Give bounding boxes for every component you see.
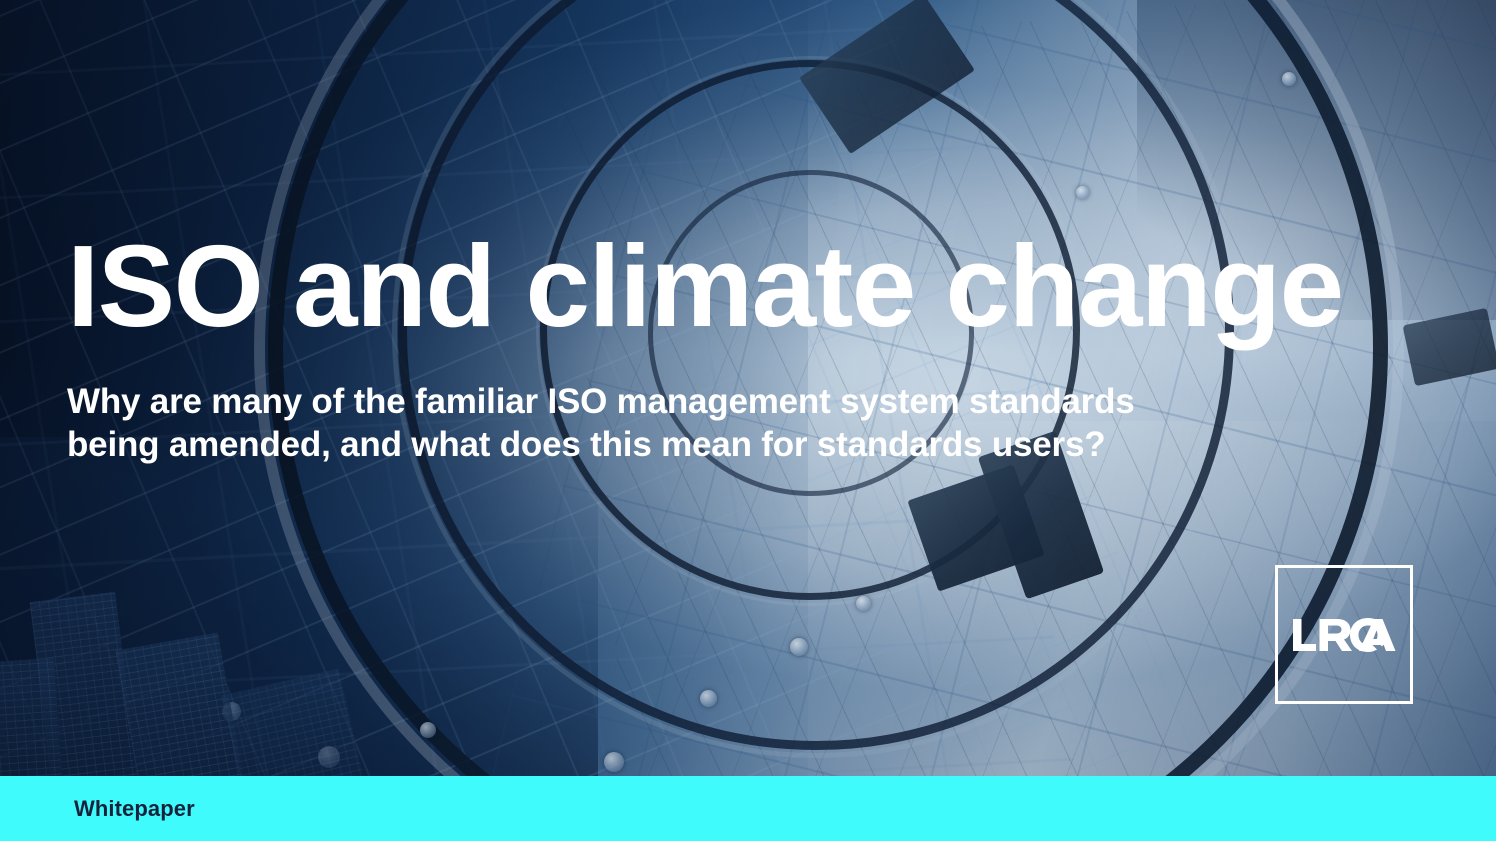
- lrqa-wordmark-icon: [1292, 616, 1396, 654]
- page-subtitle-line-1: Why are many of the familiar ISO managem…: [67, 380, 1297, 423]
- page-title: ISO and climate change: [67, 228, 1397, 344]
- document-type-label: Whitepaper: [74, 796, 195, 822]
- page-subtitle-line-2: being amended, and what does this mean f…: [67, 423, 1297, 466]
- lrqa-logo: [1275, 565, 1413, 704]
- cover-text-block: ISO and climate change Why are many of t…: [67, 228, 1397, 467]
- whitepaper-cover: ISO and climate change Why are many of t…: [0, 0, 1496, 841]
- footer-band: Whitepaper: [0, 776, 1496, 841]
- page-subtitle: Why are many of the familiar ISO managem…: [67, 380, 1297, 467]
